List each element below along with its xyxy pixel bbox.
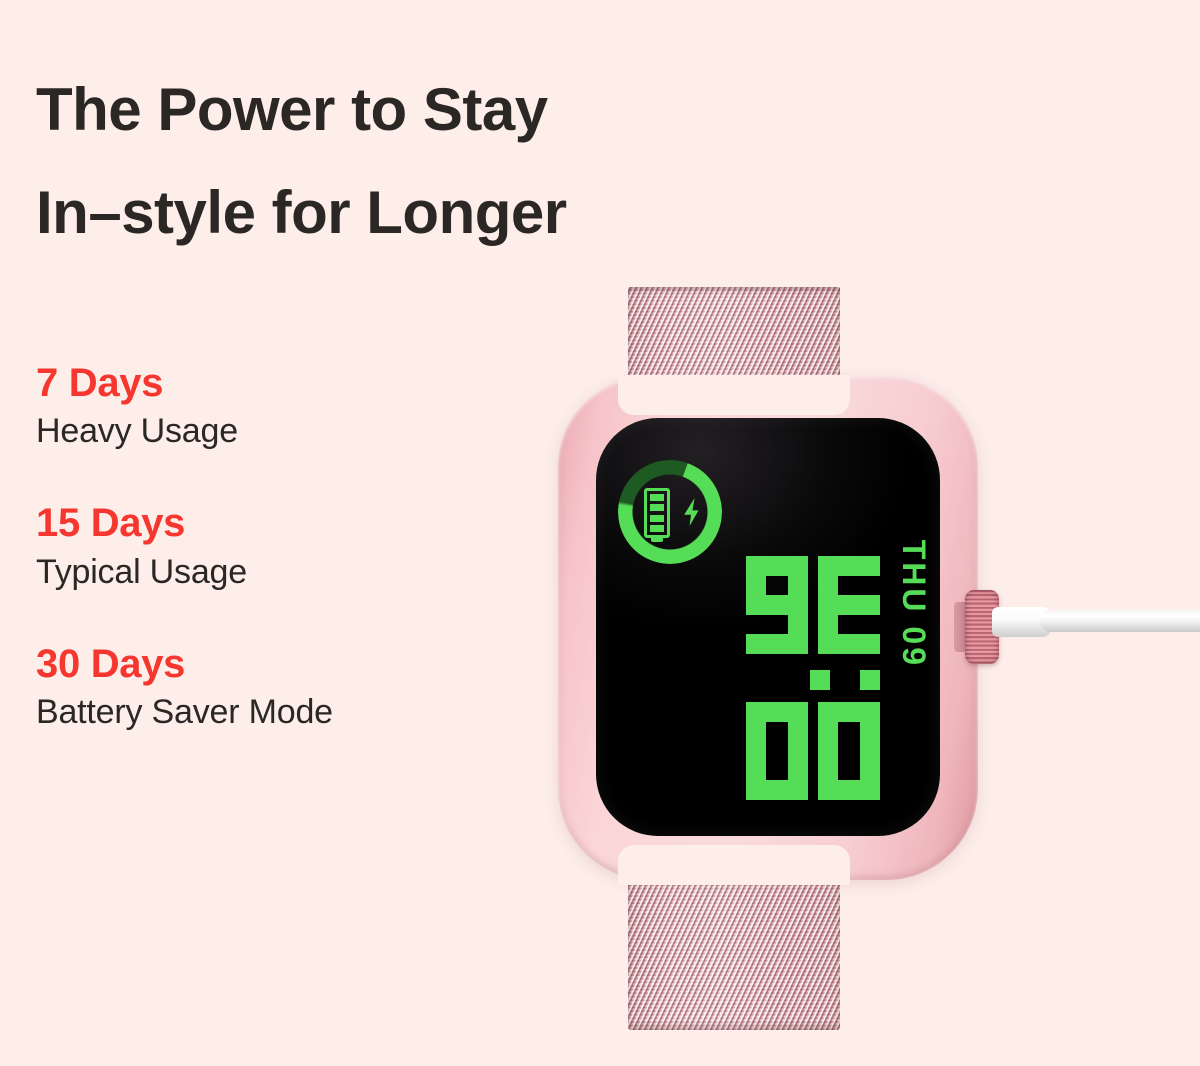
watch-band-bottom <box>628 870 840 1030</box>
smartwatch-product-image: THU 09 <box>540 270 1000 1060</box>
stat-value: 7 Days <box>36 360 506 407</box>
digit-three <box>818 556 880 654</box>
watch-face-content: THU 09 <box>596 418 940 836</box>
stat-label: Battery Saver Mode <box>36 688 506 737</box>
battery-charging-icon <box>618 460 722 564</box>
stat-value: 15 Days <box>36 500 506 547</box>
watch-lug-top <box>618 375 850 415</box>
stat-block: 30 Days Battery Saver Mode <box>36 641 506 737</box>
clock-hours <box>746 702 880 800</box>
watch-date-label: THU 09 <box>895 540 932 668</box>
digit-six <box>746 556 808 654</box>
charging-cable <box>1040 610 1200 632</box>
product-feature-banner: The Power to Stay In–style for Longer 7 … <box>0 0 1200 1066</box>
clock-colon <box>810 670 880 690</box>
stat-value: 30 Days <box>36 641 506 688</box>
stat-block: 15 Days Typical Usage <box>36 500 506 596</box>
clock-minutes <box>746 556 880 654</box>
charge-ring-icon <box>618 460 722 564</box>
watch-display: THU 09 <box>596 418 940 836</box>
digit-zero <box>818 702 880 800</box>
watch-lug-bottom <box>618 845 850 885</box>
headline: The Power to Stay In–style for Longer <box>36 58 736 264</box>
battery-icon <box>644 488 670 538</box>
stat-label: Heavy Usage <box>36 407 506 456</box>
stat-label: Typical Usage <box>36 548 506 597</box>
stat-block: 7 Days Heavy Usage <box>36 360 506 456</box>
headline-line-2: In–style for Longer <box>36 161 736 264</box>
battery-life-stats: 7 Days Heavy Usage 15 Days Typical Usage… <box>36 360 506 737</box>
headline-line-1: The Power to Stay <box>36 58 736 161</box>
digit-zero <box>746 702 808 800</box>
